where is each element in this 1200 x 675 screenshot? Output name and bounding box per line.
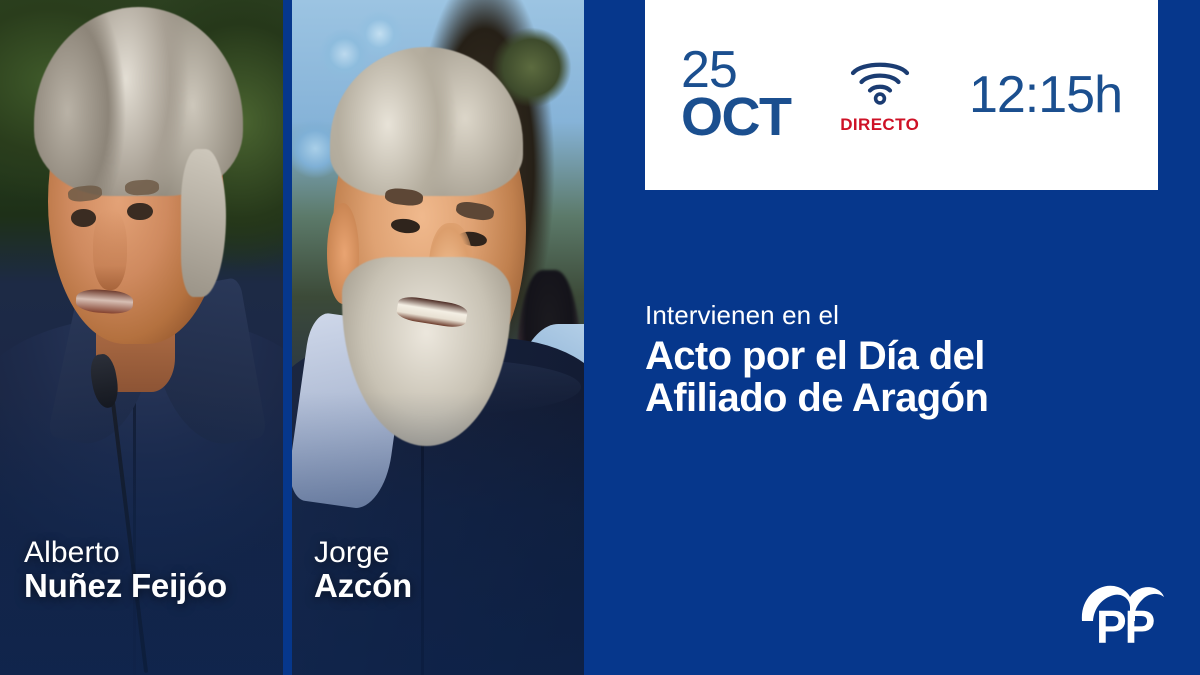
speaker-photos: Alberto Nuñez Feijóo Jorge Azcón xyxy=(0,0,584,675)
speaker-1-first-name: Alberto xyxy=(24,538,227,569)
photo-1-nose xyxy=(93,209,127,290)
live-label: DIRECTO xyxy=(840,115,919,135)
pp-seagull-logo: PP xyxy=(1074,577,1166,649)
speaker-photo-2: Jorge Azcón xyxy=(292,0,584,675)
speaker-1-last-name: Nuñez Feijóo xyxy=(24,569,227,603)
photo-1-eyebrow-right xyxy=(124,179,159,196)
event-title-line-2: Afiliado de Aragón xyxy=(645,376,1165,421)
speaker-2-name: Jorge Azcón xyxy=(314,538,412,603)
svg-text:PP: PP xyxy=(1096,601,1155,649)
event-date: 25 OCT xyxy=(681,47,791,143)
speaker-1-name: Alberto Nuñez Feijóo xyxy=(24,538,227,603)
info-column: 25 OCT DIRECTO 12:15h Intervienen en el xyxy=(584,0,1200,675)
photo-divider xyxy=(283,0,292,675)
event-description: Intervienen en el Acto por el Día del Af… xyxy=(645,300,1165,421)
photo-1-eye-left xyxy=(71,209,96,227)
photo-1-eye-right xyxy=(127,203,152,221)
event-date-month: OCT xyxy=(681,93,791,143)
event-time: 12:15h xyxy=(969,65,1122,125)
speaker-2-first-name: Jorge xyxy=(314,538,412,569)
speaker-photo-1: Alberto Nuñez Feijóo xyxy=(0,0,283,675)
broadcast-graphic: Alberto Nuñez Feijóo Jorge Azcón xyxy=(0,0,1200,675)
live-indicator: DIRECTO xyxy=(840,57,919,135)
datetime-card: 25 OCT DIRECTO 12:15h xyxy=(645,0,1158,190)
event-title-line-1: Acto por el Día del xyxy=(645,334,1165,379)
speaker-2-last-name: Azcón xyxy=(314,569,412,603)
wifi-broadcast-icon xyxy=(849,57,911,110)
event-kicker: Intervienen en el xyxy=(645,300,1165,331)
